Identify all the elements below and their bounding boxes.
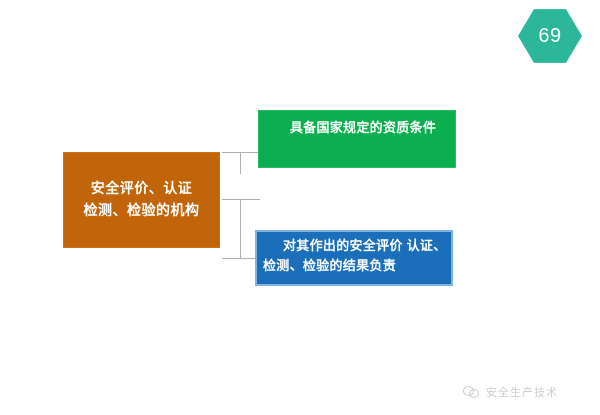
page-number-label: 69 [518, 8, 582, 64]
wechat-icon [463, 385, 480, 399]
connector-top-stub [240, 152, 241, 174]
responsibility-node-line-2: 检测、检验的结果负责 [257, 256, 396, 276]
organization-node-line-1: 安全评价、认证 [91, 178, 193, 200]
page-number-badge: 69 [518, 8, 582, 64]
qualification-node-line-1: 具备国家规定的资质条件 [278, 118, 436, 138]
responsibility-node-line-1: 对其作出的安全评价 认证、 [257, 236, 447, 256]
connector-bottom-vertical [240, 199, 241, 259]
organization-node-line-2: 检测、检验的机构 [84, 200, 200, 222]
slide-canvas: 69 安全评价、认证 检测、检验的机构 具备国家规定的资质条件 对其作出的安全评… [0, 0, 600, 415]
connector-top-horizontal [222, 152, 260, 153]
qualification-node: 具备国家规定的资质条件 [258, 110, 456, 168]
watermark-text: 安全生产技术 [486, 384, 558, 400]
wechat-icon-bubble-small [469, 389, 479, 398]
responsibility-node: 对其作出的安全评价 认证、 检测、检验的结果负责 [255, 230, 453, 286]
connector-bottom-horizontal-upper [222, 199, 260, 200]
watermark: 安全生产技术 [463, 384, 558, 400]
organization-node: 安全评价、认证 检测、检验的机构 [63, 152, 220, 248]
